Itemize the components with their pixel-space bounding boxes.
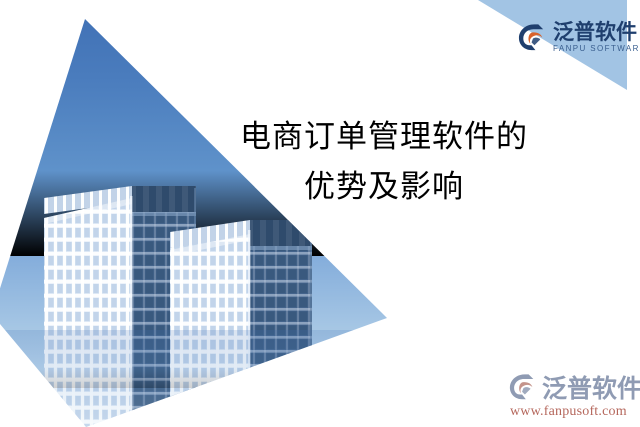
brand-logo-watermark: 泛普软件 www.fanpusoft.com <box>508 369 640 420</box>
title-line-1: 电商订单管理软件的 <box>240 119 528 154</box>
cityscape-photo <box>0 0 640 427</box>
tower-left <box>44 186 196 427</box>
fanpu-swoosh-logo-icon <box>517 22 548 53</box>
watermark-name-cn: 泛普软件 <box>542 369 640 405</box>
header-banner-shape <box>0 0 640 427</box>
bottom-left-white-wedge <box>0 318 86 427</box>
brand-name-cn: 泛普软件 <box>553 22 640 43</box>
watermark-url: www.fanpusoft.com <box>510 404 640 420</box>
brand-logo-header: 泛普软件 FANPU SOFTWARE <box>517 22 640 53</box>
brand-name-en: FANPU SOFTWARE <box>553 45 640 53</box>
page-title: 电商订单管理软件的 优势及影响 <box>228 112 540 212</box>
tower-right <box>170 220 312 427</box>
fanpu-swoosh-logo-icon <box>508 372 538 402</box>
title-line-2: 优势及影响 <box>228 162 540 212</box>
slide-canvas: 电商订单管理软件的 优势及影响 泛普软件 FANPU SOFTWARE 泛普软件… <box>0 0 640 427</box>
diamond-artwork-clip <box>0 0 640 427</box>
